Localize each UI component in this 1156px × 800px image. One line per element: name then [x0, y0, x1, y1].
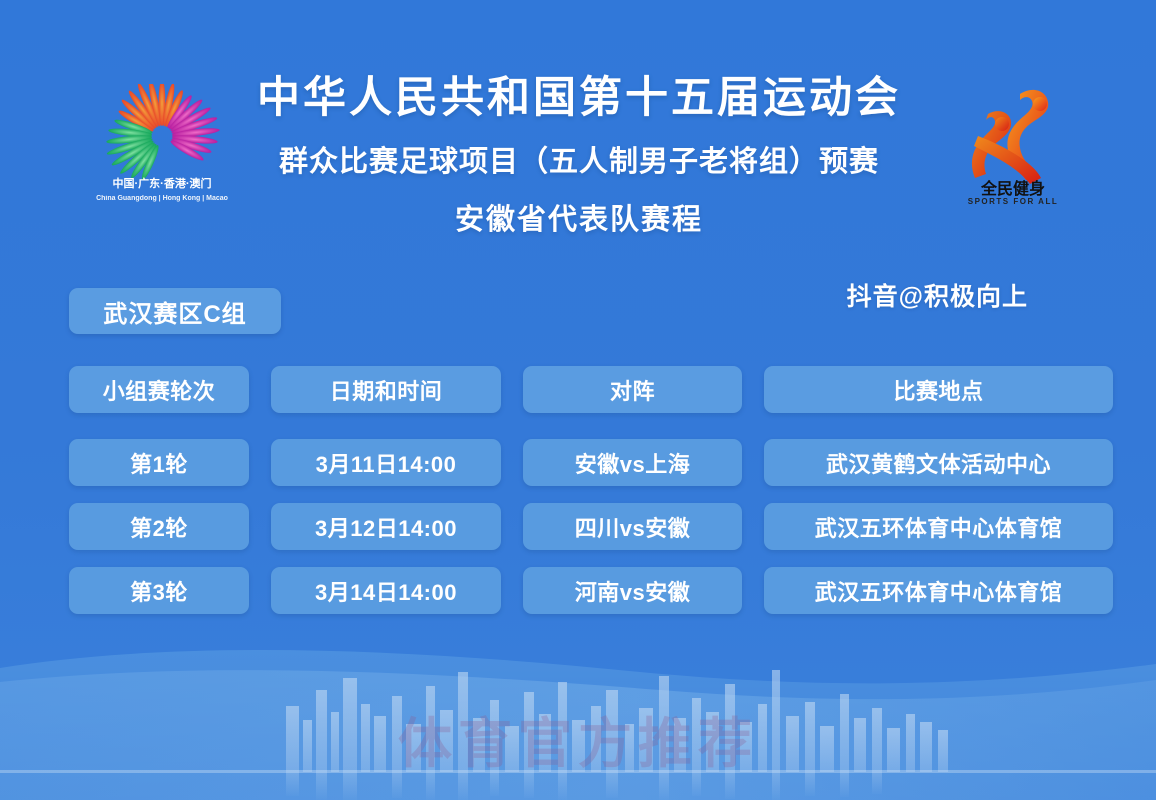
- table-header-row: 小组赛轮次 日期和时间 对阵 比赛地点: [69, 366, 1091, 413]
- cell-venue: 武汉五环体育中心体育馆: [764, 503, 1113, 550]
- column-header-venue: 比赛地点: [764, 366, 1113, 413]
- cell-matchup: 四川vs安徽: [523, 503, 742, 550]
- cell-matchup: 安徽vs上海: [523, 439, 742, 486]
- svg-text:中国·广东·香港·澳门: 中国·广东·香港·澳门: [113, 176, 212, 190]
- column-header-datetime: 日期和时间: [271, 366, 501, 413]
- group-badge: 武汉赛区C组: [69, 288, 281, 334]
- poster-subtitle-event: 群众比赛足球项目（五人制男子老将组）预赛: [228, 138, 930, 180]
- svg-text:全民健身: 全民健身: [980, 179, 1045, 198]
- svg-text:SPORTS FOR ALL: SPORTS FOR ALL: [968, 197, 1058, 206]
- cell-matchup: 河南vs安徽: [523, 567, 742, 614]
- column-header-matchup: 对阵: [523, 366, 742, 413]
- cell-venue: 武汉黄鹤文体活动中心: [764, 439, 1113, 486]
- table-row: 第1轮 3月11日14:00 安徽vs上海 武汉黄鹤文体活动中心: [69, 439, 1091, 486]
- cell-round: 第1轮: [69, 439, 249, 486]
- poster-canvas: 体育官方推荐: [0, 0, 1156, 800]
- cell-round: 第2轮: [69, 503, 249, 550]
- schedule-table: 小组赛轮次 日期和时间 对阵 比赛地点 第1轮 3月11日14:00 安徽vs上…: [69, 366, 1091, 631]
- bottom-scenery-decoration: [0, 620, 1156, 800]
- poster-subtitle-team: 安徽省代表队赛程: [228, 196, 930, 238]
- fifteenth-national-games-emblem-icon: 中国·广东·香港·澳门 China Guangdong | Hong Kong …: [96, 84, 228, 216]
- cell-datetime: 3月11日14:00: [271, 439, 501, 486]
- column-header-round: 小组赛轮次: [69, 366, 249, 413]
- table-row: 第2轮 3月12日14:00 四川vs安徽 武汉五环体育中心体育馆: [69, 503, 1091, 550]
- poster-header: 中国·广东·香港·澳门 China Guangdong | Hong Kong …: [0, 72, 1156, 262]
- attribution-handle: 抖音@积极向上: [847, 277, 1028, 313]
- title-block: 中华人民共和国第十五届运动会 群众比赛足球项目（五人制男子老将组）预赛 安徽省代…: [228, 72, 930, 238]
- cell-datetime: 3月12日14:00: [271, 503, 501, 550]
- footer-watermark: 体育官方推荐: [0, 699, 1156, 778]
- cell-datetime: 3月14日14:00: [271, 567, 501, 614]
- cell-venue: 武汉五环体育中心体育馆: [764, 567, 1113, 614]
- cell-round: 第3轮: [69, 567, 249, 614]
- poster-title: 中华人民共和国第十五届运动会: [228, 72, 930, 126]
- sports-for-all-emblem-icon: 全民健身 SPORTS FOR ALL: [948, 80, 1078, 208]
- svg-text:China Guangdong | Hong Kong |: China Guangdong | Hong Kong | Macao: [96, 195, 228, 202]
- table-row: 第3轮 3月14日14:00 河南vs安徽 武汉五环体育中心体育馆: [69, 567, 1091, 614]
